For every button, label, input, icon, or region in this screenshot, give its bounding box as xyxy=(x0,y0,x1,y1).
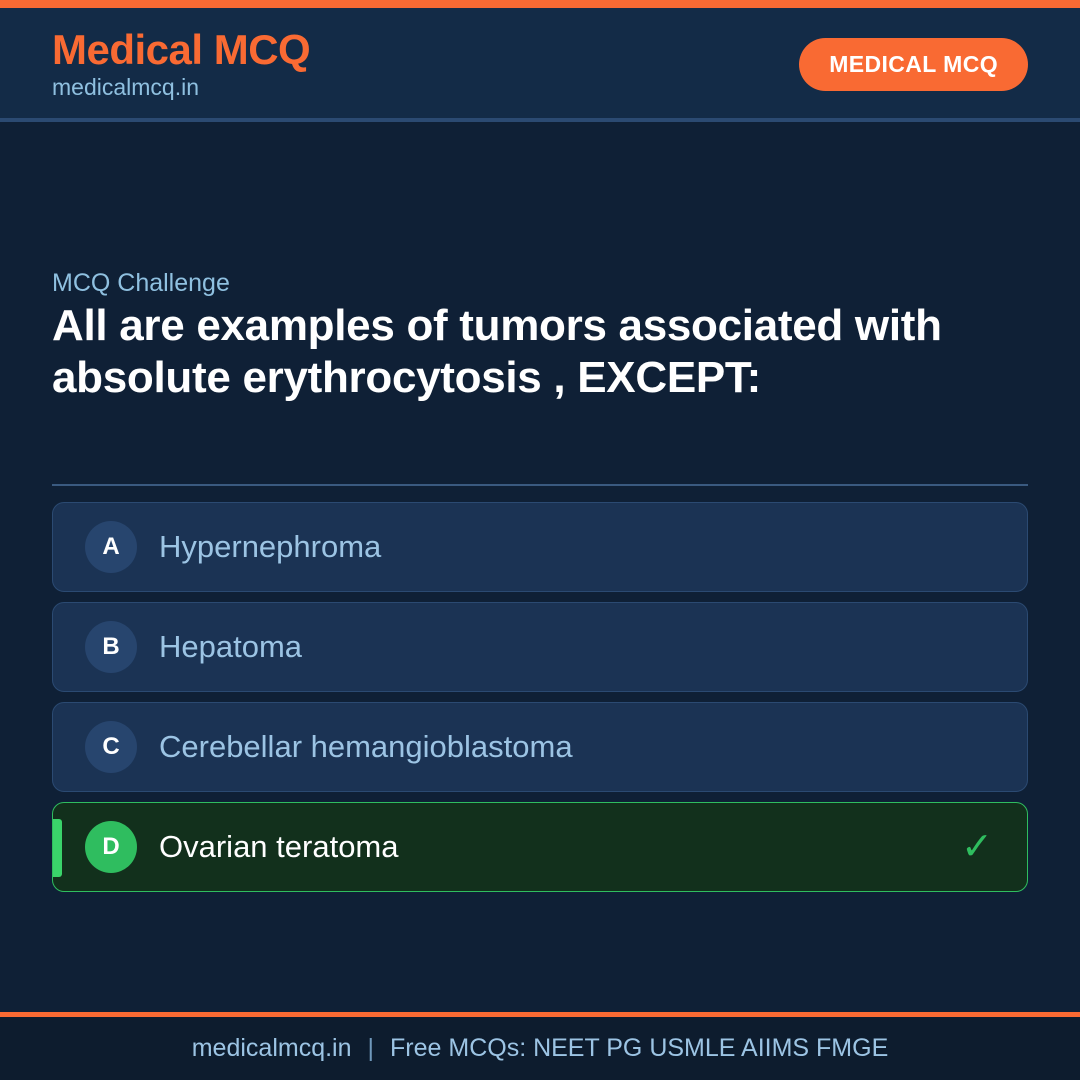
top-accent-rule xyxy=(0,0,1080,8)
option-c[interactable]: C Cerebellar hemangioblastoma xyxy=(52,702,1028,792)
question-divider xyxy=(52,484,1028,486)
option-label: Hepatoma xyxy=(159,628,993,665)
brand-title: Medical MCQ xyxy=(52,28,310,73)
footer-separator: | xyxy=(368,1034,375,1063)
main-content: MCQ Challenge All are examples of tumors… xyxy=(0,122,1080,1009)
question-title: All are examples of tumors associated wi… xyxy=(52,300,1032,404)
check-icon: ✓ xyxy=(961,828,993,866)
brand-badge: MEDICAL MCQ xyxy=(799,38,1028,91)
option-label: Ovarian teratoma xyxy=(159,828,961,865)
brand-block: Medical MCQ medicalmcq.in xyxy=(52,28,310,100)
footer-exams: Free MCQs: NEET PG USMLE AIIMS FMGE xyxy=(390,1036,888,1061)
brand-subtitle: medicalmcq.in xyxy=(52,75,310,100)
option-letter-badge: D xyxy=(85,821,137,873)
option-a[interactable]: A Hypernephroma xyxy=(52,502,1028,592)
question-eyebrow: MCQ Challenge xyxy=(52,268,230,298)
option-b[interactable]: B Hepatoma xyxy=(52,602,1028,692)
option-letter-badge: A xyxy=(85,521,137,573)
footer-site: medicalmcq.in xyxy=(192,1036,352,1061)
option-label: Cerebellar hemangioblastoma xyxy=(159,728,993,765)
correct-accent-bar xyxy=(53,819,62,877)
options-list: A Hypernephroma B Hepatoma C Cerebellar … xyxy=(52,502,1028,892)
option-label: Hypernephroma xyxy=(159,528,993,565)
option-d[interactable]: D Ovarian teratoma ✓ xyxy=(52,802,1028,892)
page-footer: medicalmcq.in | Free MCQs: NEET PG USMLE… xyxy=(0,1017,1080,1080)
option-letter-badge: C xyxy=(85,721,137,773)
page-header: Medical MCQ medicalmcq.in MEDICAL MCQ xyxy=(0,8,1080,120)
option-letter-badge: B xyxy=(85,621,137,673)
